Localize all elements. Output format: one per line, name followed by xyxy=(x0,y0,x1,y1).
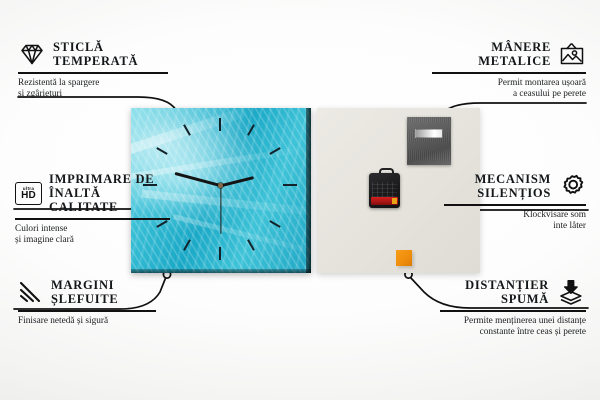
feature-description: Rezistentă la spargere și zgârieturi xyxy=(18,78,168,101)
feature-high-quality-print: ultra HD IMPRIMARE DE ÎNALTĂ CALITATE Cu… xyxy=(15,172,170,246)
diamond-icon xyxy=(18,42,46,66)
feature-description: Finisare netedă și sigură xyxy=(18,316,156,327)
feature-divider xyxy=(15,218,170,220)
picture-hanger-icon xyxy=(558,41,586,67)
feature-title: MARGINI ȘLEFUITE xyxy=(51,278,118,306)
feature-foam-spacer: DISTANȚIER SPUMĂ Permite menținerea unei… xyxy=(440,278,586,338)
polished-edges-icon xyxy=(18,280,44,304)
feature-description: Permit montarea ușoară a ceasului pe per… xyxy=(432,78,586,101)
feature-title: MECANISM SILENȚIOS xyxy=(475,172,551,200)
battery-terminal xyxy=(392,198,397,204)
clock-tick xyxy=(283,184,297,186)
feature-description: Permite menținerea unei distanțe constan… xyxy=(440,316,586,339)
metal-hanger-plate xyxy=(407,117,451,165)
gear-icon xyxy=(558,173,586,200)
foam-spacer-icon xyxy=(556,279,586,306)
feature-description: Culori intense și imagine clară xyxy=(15,224,170,247)
glass-edge-bottom xyxy=(131,269,311,273)
feature-divider xyxy=(432,72,586,74)
clock-second-hand xyxy=(220,186,221,234)
glass-edge-right xyxy=(306,108,311,273)
feature-divider xyxy=(18,72,168,74)
mechanism-battery xyxy=(371,197,398,205)
feature-divider xyxy=(18,310,156,312)
feature-description: Klockvisare som inte låter xyxy=(444,210,586,233)
mechanism-texture xyxy=(372,182,397,197)
foam-spacer-part xyxy=(396,250,412,266)
feature-divider xyxy=(440,310,586,312)
ultra-hd-icon-main-label: HD xyxy=(21,191,36,201)
clock-tick xyxy=(219,118,221,131)
clock-center-hub xyxy=(218,183,223,188)
mechanism-body xyxy=(369,173,400,208)
feature-silent-mechanism: MECANISM SILENȚIOS Klockvisare som inte … xyxy=(444,172,586,232)
feature-divider xyxy=(444,204,586,206)
quartz-mechanism xyxy=(369,168,400,208)
ultra-hd-icon: ultra HD xyxy=(15,182,42,205)
infographic-canvas: STICLĂ TEMPERATĂ Rezistentă la spargere … xyxy=(0,0,600,400)
feature-title: STICLĂ TEMPERATĂ xyxy=(53,40,138,68)
feature-title: MÂNERE METALICE xyxy=(478,40,551,68)
feature-polished-edges: MARGINI ȘLEFUITE Finisare netedă și sigu… xyxy=(18,278,156,327)
feature-metal-handles: MÂNERE METALICE Permit montarea ușoară a… xyxy=(432,40,586,100)
feature-tempered-glass: STICLĂ TEMPERATĂ Rezistentă la spargere … xyxy=(18,40,168,100)
feature-title: DISTANȚIER SPUMĂ xyxy=(465,278,549,306)
feature-title: IMPRIMARE DE ÎNALTĂ CALITATE xyxy=(49,172,170,214)
hanger-slot xyxy=(415,129,443,138)
clock-tick xyxy=(219,247,221,260)
